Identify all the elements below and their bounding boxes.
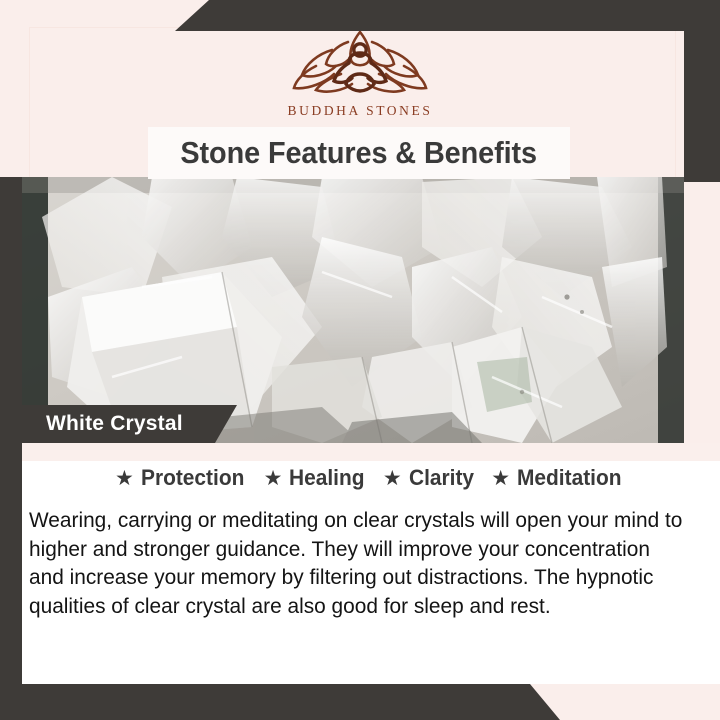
title-banner: Stone Features & Benefits bbox=[148, 127, 570, 179]
frame-right bbox=[684, 0, 720, 182]
benefit-label: Clarity bbox=[409, 465, 474, 491]
page-title: Stone Features & Benefits bbox=[181, 135, 538, 171]
stone-name-badge: White Crystal bbox=[22, 405, 237, 443]
stone-description: Wearing, carrying or meditating on clear… bbox=[29, 506, 684, 620]
crystal-photo bbox=[22, 177, 684, 443]
brand-name: BUDDHA STONES bbox=[288, 103, 433, 119]
details-panel: ★ Protection ★ Healing ★ Clarity ★ Medit… bbox=[22, 443, 720, 684]
brand-block: BUDDHA STONES bbox=[0, 22, 720, 119]
frame-top bbox=[175, 0, 720, 31]
star-icon: ★ bbox=[115, 468, 134, 489]
benefit-label: Protection bbox=[141, 465, 244, 491]
benefit-item: ★ Protection bbox=[115, 465, 250, 491]
benefit-label: Healing bbox=[289, 465, 364, 491]
frame-bottom bbox=[0, 684, 720, 720]
star-icon: ★ bbox=[383, 468, 402, 489]
benefit-item: ★ Clarity bbox=[383, 465, 477, 491]
benefit-item: ★ Healing bbox=[264, 465, 369, 491]
star-icon: ★ bbox=[264, 468, 283, 489]
product-info-card: BUDDHA STONES Stone Features & Benefits bbox=[0, 0, 720, 720]
frame-left bbox=[0, 177, 22, 720]
star-icon: ★ bbox=[491, 468, 510, 489]
stone-name: White Crystal bbox=[46, 412, 183, 436]
benefit-label: Meditation bbox=[517, 465, 622, 491]
accent-strip bbox=[22, 443, 720, 461]
benefit-item: ★ Meditation bbox=[491, 465, 627, 491]
lotus-meditation-icon bbox=[286, 22, 434, 100]
benefits-row: ★ Protection ★ Healing ★ Clarity ★ Medit… bbox=[22, 465, 720, 491]
